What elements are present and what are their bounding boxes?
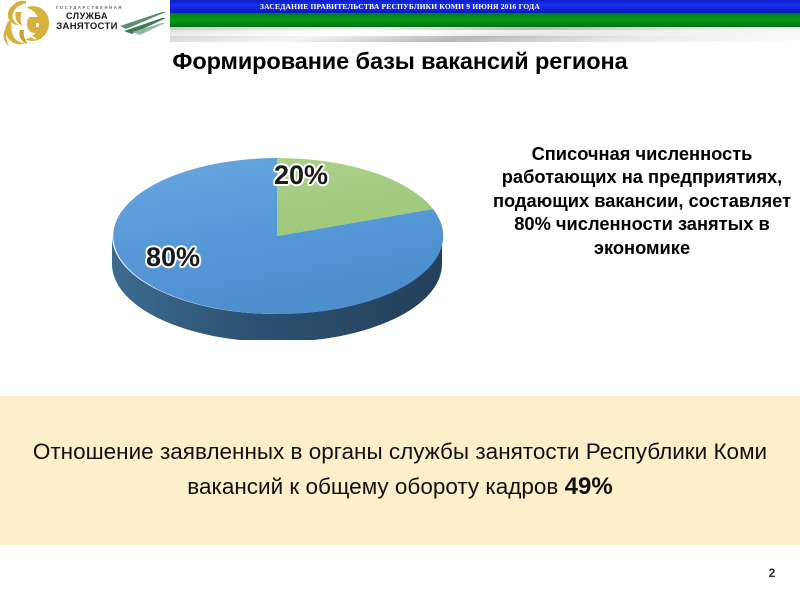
banner-value: 49%: [565, 473, 613, 500]
logo-line-small: государственная: [56, 6, 118, 10]
logo-line-second: ЗАНЯТОСТИ: [56, 22, 118, 32]
organization-logo: государственная СЛУЖБА ЗАНЯТОСТИ: [0, 0, 170, 46]
logo-text-block: государственная СЛУЖБА ЗАНЯТОСТИ: [56, 6, 118, 32]
side-description-text: Списочная численность работающих на пред…: [492, 142, 792, 259]
wheat-emblem-icon: [2, 0, 56, 48]
banner-text-main: Отношение заявленных в органы службы зан…: [33, 439, 767, 499]
pie-label-green: 20%: [274, 160, 328, 191]
pie-chart: 20% 80%: [108, 140, 446, 340]
page-number: 2: [760, 566, 784, 580]
highlight-banner: Отношение заявленных в органы службы зан…: [0, 396, 800, 545]
logo-arrow-swoosh-icon: [118, 10, 168, 36]
highlight-banner-text: Отношение заявленных в органы службы зан…: [30, 435, 770, 506]
page-title: Формирование базы вакансий региона: [0, 48, 800, 75]
pie-label-blue: 80%: [146, 242, 200, 273]
logo-line-main: СЛУЖБА: [56, 12, 118, 21]
